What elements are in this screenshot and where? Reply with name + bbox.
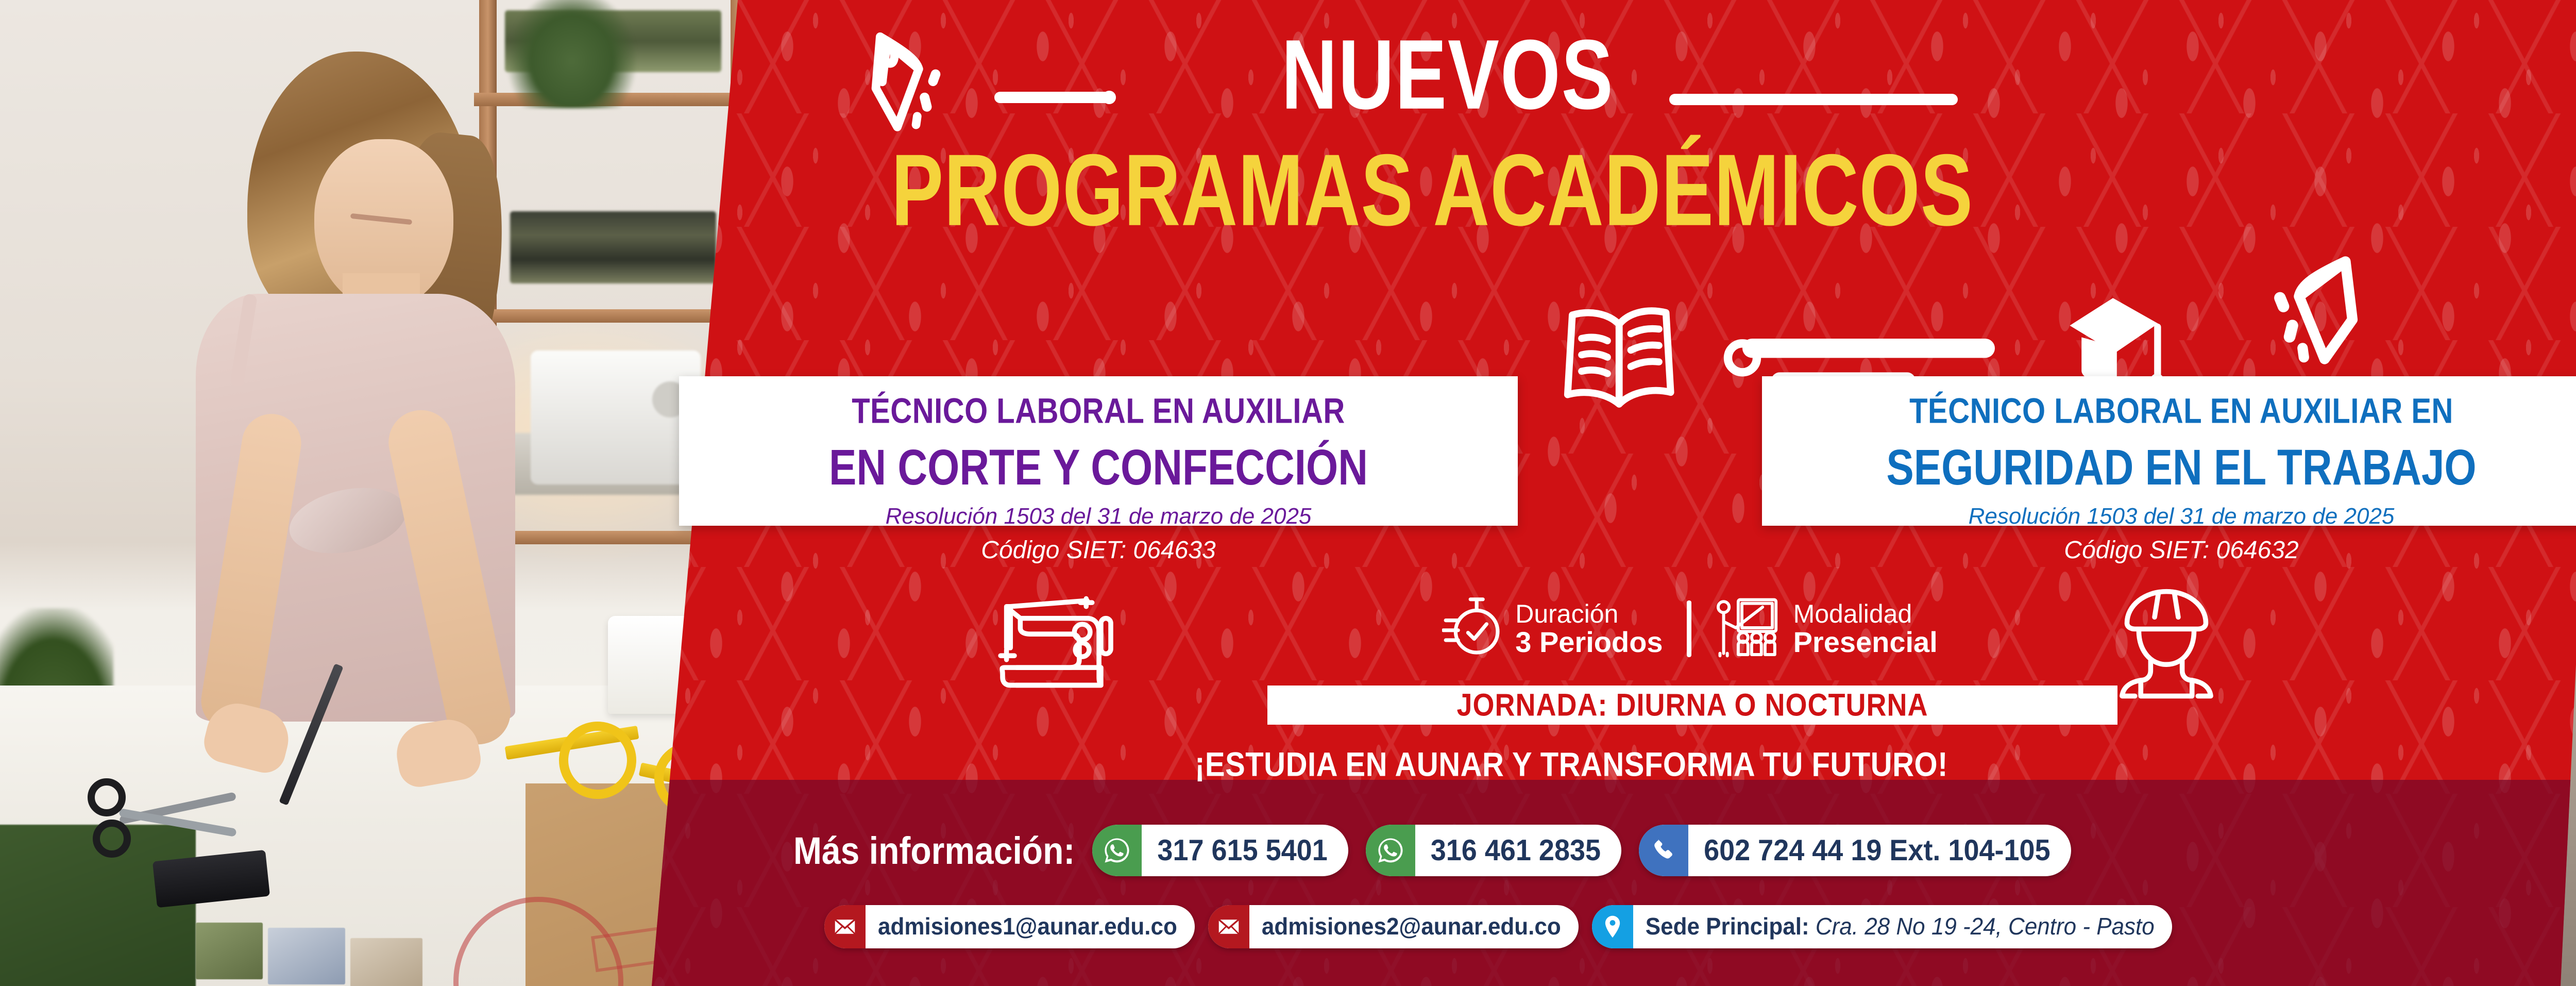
sewing-machine-icon	[974, 593, 1118, 701]
classroom-icon	[1715, 597, 1782, 661]
whatsapp-pill-2[interactable]: 316 461 2835	[1366, 825, 1621, 876]
phone-number: 316 461 2835	[1415, 833, 1621, 867]
program-eyebrow: TÉCNICO LABORAL EN AUXILIAR	[679, 391, 1518, 431]
phone-icon	[1639, 825, 1688, 876]
meta-divider	[1687, 600, 1691, 657]
duration-item: Duración 3 Periodos	[1442, 597, 1663, 661]
email-address: admisiones1@aunar.edu.co	[866, 913, 1195, 941]
title-rule-right	[1669, 94, 1958, 105]
phone-number: 317 615 5401	[1142, 833, 1348, 867]
program-siet-code: Código SIET: 064633	[679, 536, 1518, 564]
jornada-badge: JORNADA: DIURNA O NOCTURNA	[1267, 686, 2117, 725]
whatsapp-icon	[1092, 825, 1142, 876]
program-card-seguridad[interactable]: TÉCNICO LABORAL EN AUXILIAR EN SEGURIDAD…	[1762, 376, 2576, 526]
modality-value: Presencial	[1793, 627, 1938, 657]
contact-emails-row: admisiones1@aunar.edu.co admisiones2@aun…	[824, 901, 2172, 952]
whatsapp-icon	[1366, 825, 1415, 876]
address-label: Sede Principal:	[1646, 913, 1809, 940]
program-eyebrow: TÉCNICO LABORAL EN AUXILIAR EN	[1762, 391, 2576, 431]
duration-label: Duración	[1515, 601, 1663, 627]
program-siet-code: Código SIET: 064632	[1762, 536, 2576, 564]
program-card-corte[interactable]: TÉCNICO LABORAL EN AUXILIAR EN CORTE Y C…	[679, 376, 1518, 526]
banner-header: NUEVOS PROGRAMAS ACADÉMICOS	[876, 9, 2576, 257]
megaphone-icon	[2236, 236, 2385, 375]
program-name: EN CORTE Y CONFECCIÓN	[679, 439, 1518, 496]
program-resolution: Resolución 1503 del 31 de marzo de 2025	[679, 504, 1518, 529]
jornada-label: JORNADA: DIURNA O NOCTURNA	[1457, 687, 1928, 724]
program-meta-row: Duración 3 Periodos	[1236, 588, 2143, 670]
contact-phones-row: Más información: 317 615 5401 316 461 28…	[793, 820, 2071, 881]
phone-pill[interactable]: 602 724 44 19 Ext. 104-105	[1639, 825, 2071, 876]
sewing-studio-photo	[0, 0, 752, 986]
program-name: SEGURIDAD EN EL TRABAJO	[1762, 439, 2576, 496]
modality-label: Modalidad	[1793, 601, 1938, 627]
title-rule-left	[994, 92, 1113, 103]
email-pill-2[interactable]: admisiones2@aunar.edu.co	[1208, 905, 1579, 948]
open-book-icon	[1556, 298, 1685, 416]
more-info-label: Más información:	[793, 828, 1075, 872]
rule-dot-icon	[1103, 91, 1116, 104]
location-pin-icon	[1592, 905, 1633, 948]
email-address: admisiones2@aunar.edu.co	[1249, 913, 1579, 941]
address-value: Cra. 28 No 19 -24, Centro - Pasto	[1809, 913, 2155, 940]
duration-value: 3 Periodos	[1515, 627, 1663, 657]
whatsapp-pill-1[interactable]: 317 615 5401	[1092, 825, 1348, 876]
page-title-line2: PROGRAMAS ACADÉMICOS	[860, 132, 2004, 249]
tagline: ¡ESTUDIA EN AUNAR Y TRANSFORMA TU FUTURO…	[1082, 745, 2061, 784]
megaphone-icon	[845, 20, 984, 148]
mail-icon	[824, 905, 866, 948]
program-resolution: Resolución 1503 del 31 de marzo de 2025	[1762, 504, 2576, 529]
email-pill-1[interactable]: admisiones1@aunar.edu.co	[824, 905, 1195, 948]
phone-number: 602 724 44 19 Ext. 104-105	[1688, 833, 2071, 867]
page-title-line1: NUEVOS	[1164, 18, 1731, 131]
mail-icon	[1208, 905, 1249, 948]
promo-banner: NUEVOS PROGRAMAS ACADÉMICOS	[0, 0, 2576, 986]
modality-item: Modalidad Presencial	[1715, 597, 1938, 661]
stopwatch-icon	[1442, 597, 1504, 661]
address-pill[interactable]: Sede Principal: Cra. 28 No 19 -24, Centr…	[1592, 905, 2172, 948]
